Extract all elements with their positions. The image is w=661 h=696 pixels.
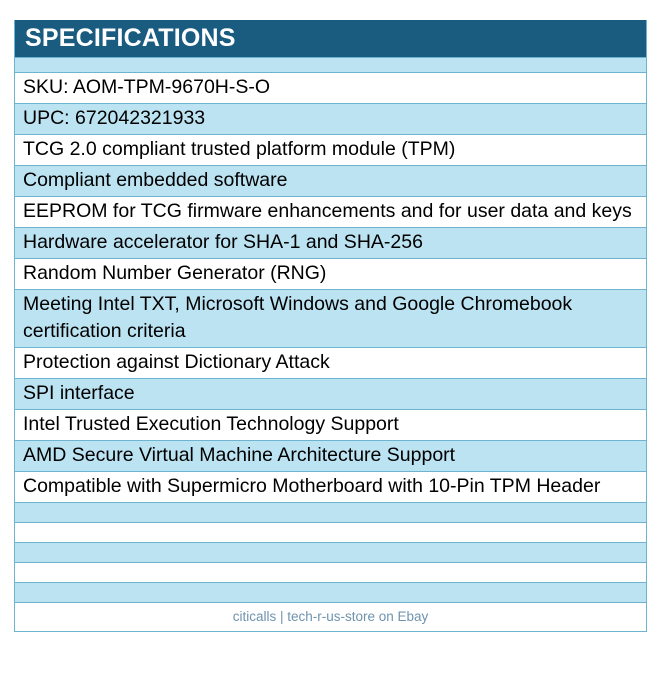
specifications-list: SKU: AOM-TPM-9670H-S-OUPC: 672042321933T… — [15, 73, 646, 503]
spec-row: Compliant embedded software — [15, 166, 646, 197]
empty-row — [15, 543, 646, 563]
spec-row: UPC: 672042321933 — [15, 104, 646, 135]
spec-row: TCG 2.0 compliant trusted platform modul… — [15, 135, 646, 166]
spec-row: SPI interface — [15, 379, 646, 410]
specifications-card: SPECIFICATIONS SKU: AOM-TPM-9670H-S-OUPC… — [14, 20, 647, 632]
empty-row — [15, 523, 646, 543]
empty-row — [15, 583, 646, 603]
spec-row: SKU: AOM-TPM-9670H-S-O — [15, 73, 646, 104]
specifications-title: SPECIFICATIONS — [15, 20, 646, 57]
spec-row: Random Number Generator (RNG) — [15, 259, 646, 290]
store-attribution-footer: citicalls | tech-r-us-store on Ebay — [15, 603, 646, 631]
empty-row — [15, 563, 646, 583]
spec-row: Meeting Intel TXT, Microsoft Windows and… — [15, 290, 646, 348]
spec-row: Intel Trusted Execution Technology Suppo… — [15, 410, 646, 441]
spec-row: AMD Secure Virtual Machine Architecture … — [15, 441, 646, 472]
spec-row: Compatible with Supermicro Motherboard w… — [15, 472, 646, 503]
spec-row: Hardware accelerator for SHA-1 and SHA-2… — [15, 228, 646, 259]
spec-row: Protection against Dictionary Attack — [15, 348, 646, 379]
header-spacer-row — [15, 57, 646, 73]
empty-row — [15, 503, 646, 523]
empty-filler-rows — [15, 503, 646, 603]
spec-row: EEPROM for TCG firmware enhancements and… — [15, 197, 646, 228]
